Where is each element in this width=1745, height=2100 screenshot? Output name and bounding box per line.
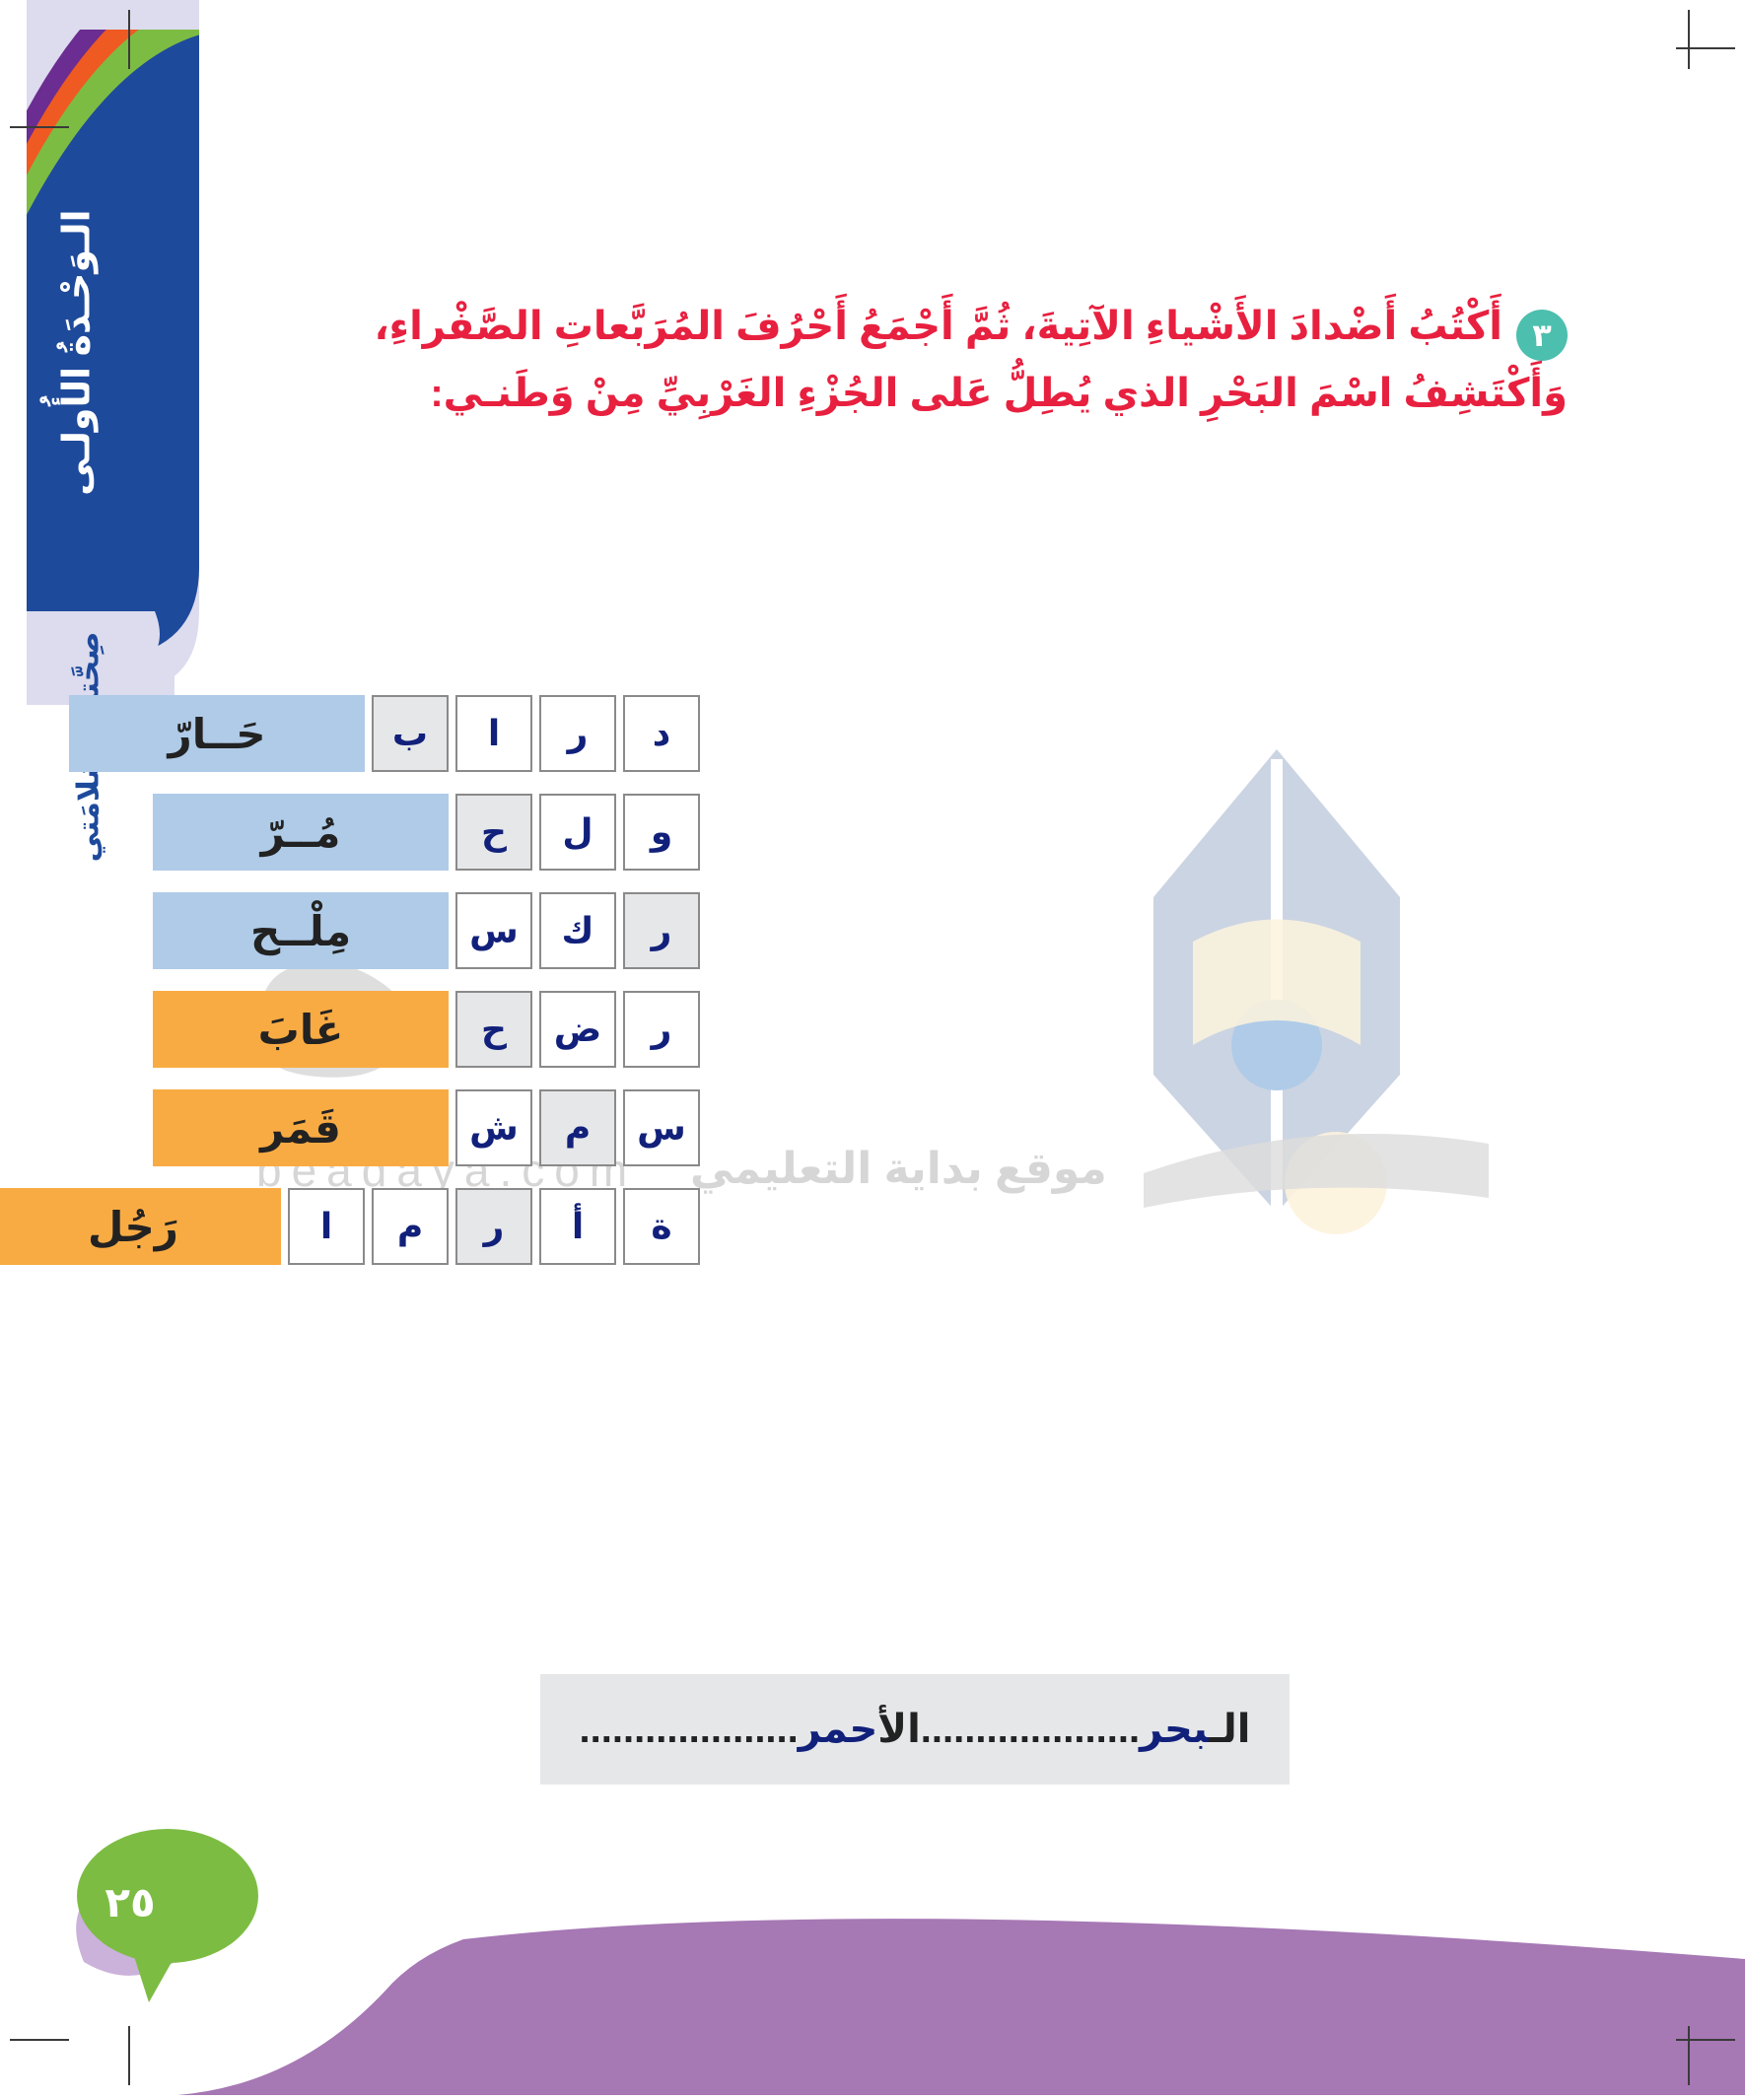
letter-box-group: ركس: [449, 892, 700, 969]
crop-mark-top-left-h: [10, 126, 69, 128]
letter-box[interactable]: ة: [623, 1188, 700, 1265]
answer-dots-2: ....................: [580, 1708, 799, 1751]
letter-box-shaded[interactable]: م: [539, 1089, 616, 1166]
letter-box[interactable]: م: [372, 1188, 449, 1265]
question-number-badge: ٣: [1516, 310, 1568, 361]
exercise-row: سمشقَمَر: [0, 1089, 754, 1166]
letter-box[interactable]: ا: [288, 1188, 365, 1265]
crop-mark-bottom-right-h: [1676, 2039, 1735, 2041]
answer-dots-1: ....................: [921, 1708, 1140, 1751]
prompt-word: غَابَ: [153, 991, 449, 1068]
letter-box-shaded[interactable]: ح: [455, 794, 532, 871]
exercise-rows: درابحَــارّولحمُــرّركسمِلْــحرضحغَابَسم…: [0, 695, 754, 1287]
letter-box-group: ولح: [449, 794, 700, 871]
answer-line[interactable]: الـبحر....................الأحمر........…: [580, 1707, 1251, 1752]
question-text-line2: وَأَكْتَشِفُ اسْمَ البَحْرِ الذي يُطِلُّ…: [306, 363, 1568, 424]
exercise-row: ةأرمارَجُل: [0, 1188, 754, 1265]
letter-box-shaded[interactable]: ب: [372, 695, 449, 772]
answer-strip[interactable]: الـبحر....................الأحمر........…: [540, 1674, 1290, 1785]
letter-box[interactable]: ض: [539, 991, 616, 1068]
prompt-word: حَــارّ: [69, 695, 365, 772]
sidebar-unit-label: الـوَحْـدَةُ الأُولـى: [55, 210, 100, 486]
answer-prefix-1: الـ: [1209, 1708, 1250, 1751]
letter-box[interactable]: ر: [623, 991, 700, 1068]
letter-box[interactable]: س: [623, 1089, 700, 1166]
letter-box-group: رضح: [449, 991, 700, 1068]
exercise-row: ركسمِلْــح: [0, 892, 754, 969]
letter-box-group: سمش: [449, 1089, 700, 1166]
pen-nib-icon: [1065, 749, 1489, 1262]
letter-box[interactable]: ك: [539, 892, 616, 969]
question-block: ٣أَكْتُبُ أَضْدادَ الأَشْياءِ الآتِيةَ، …: [306, 296, 1568, 424]
letter-box-shaded[interactable]: ر: [455, 1188, 532, 1265]
crop-mark-top-right-v: [1688, 10, 1690, 69]
crop-mark-bottom-left-v: [128, 2026, 130, 2085]
letter-box[interactable]: س: [455, 892, 532, 969]
letter-box[interactable]: ر: [539, 695, 616, 772]
exercise-row: ولحمُــرّ: [0, 794, 754, 871]
crop-mark-bottom-left-h: [10, 2039, 69, 2041]
letter-box[interactable]: و: [623, 794, 700, 871]
letter-box[interactable]: د: [623, 695, 700, 772]
crop-mark-bottom-right-v: [1688, 2026, 1690, 2085]
answer-prefix-2: الأ: [877, 1708, 921, 1751]
letter-box-group: دراب: [365, 695, 700, 772]
crop-mark-top-right-h: [1676, 47, 1735, 49]
letter-box[interactable]: أ: [539, 1188, 616, 1265]
prompt-word: مِلْــح: [153, 892, 449, 969]
answer-fill-2[interactable]: حمر: [799, 1708, 878, 1751]
prompt-word: رَجُل: [0, 1188, 281, 1265]
question-text-line1: أَكْتُبُ أَضْدادَ الأَشْياءِ الآتِيةَ، ث…: [374, 305, 1502, 348]
letter-box-shaded[interactable]: ر: [623, 892, 700, 969]
crop-mark-top-left-v: [128, 10, 130, 69]
exercise-row: رضحغَابَ: [0, 991, 754, 1068]
exercise-row: درابحَــارّ: [0, 695, 754, 772]
letter-box-shaded[interactable]: ح: [455, 991, 532, 1068]
letter-box[interactable]: ل: [539, 794, 616, 871]
letter-box[interactable]: ش: [455, 1089, 532, 1166]
prompt-word: قَمَر: [153, 1089, 449, 1166]
letter-box[interactable]: ا: [455, 695, 532, 772]
page-number: ٢٥: [91, 1878, 170, 1926]
letter-box-group: ةأرما: [281, 1188, 700, 1265]
answer-fill-1[interactable]: بحر: [1140, 1708, 1209, 1751]
prompt-word: مُــرّ: [153, 794, 449, 871]
